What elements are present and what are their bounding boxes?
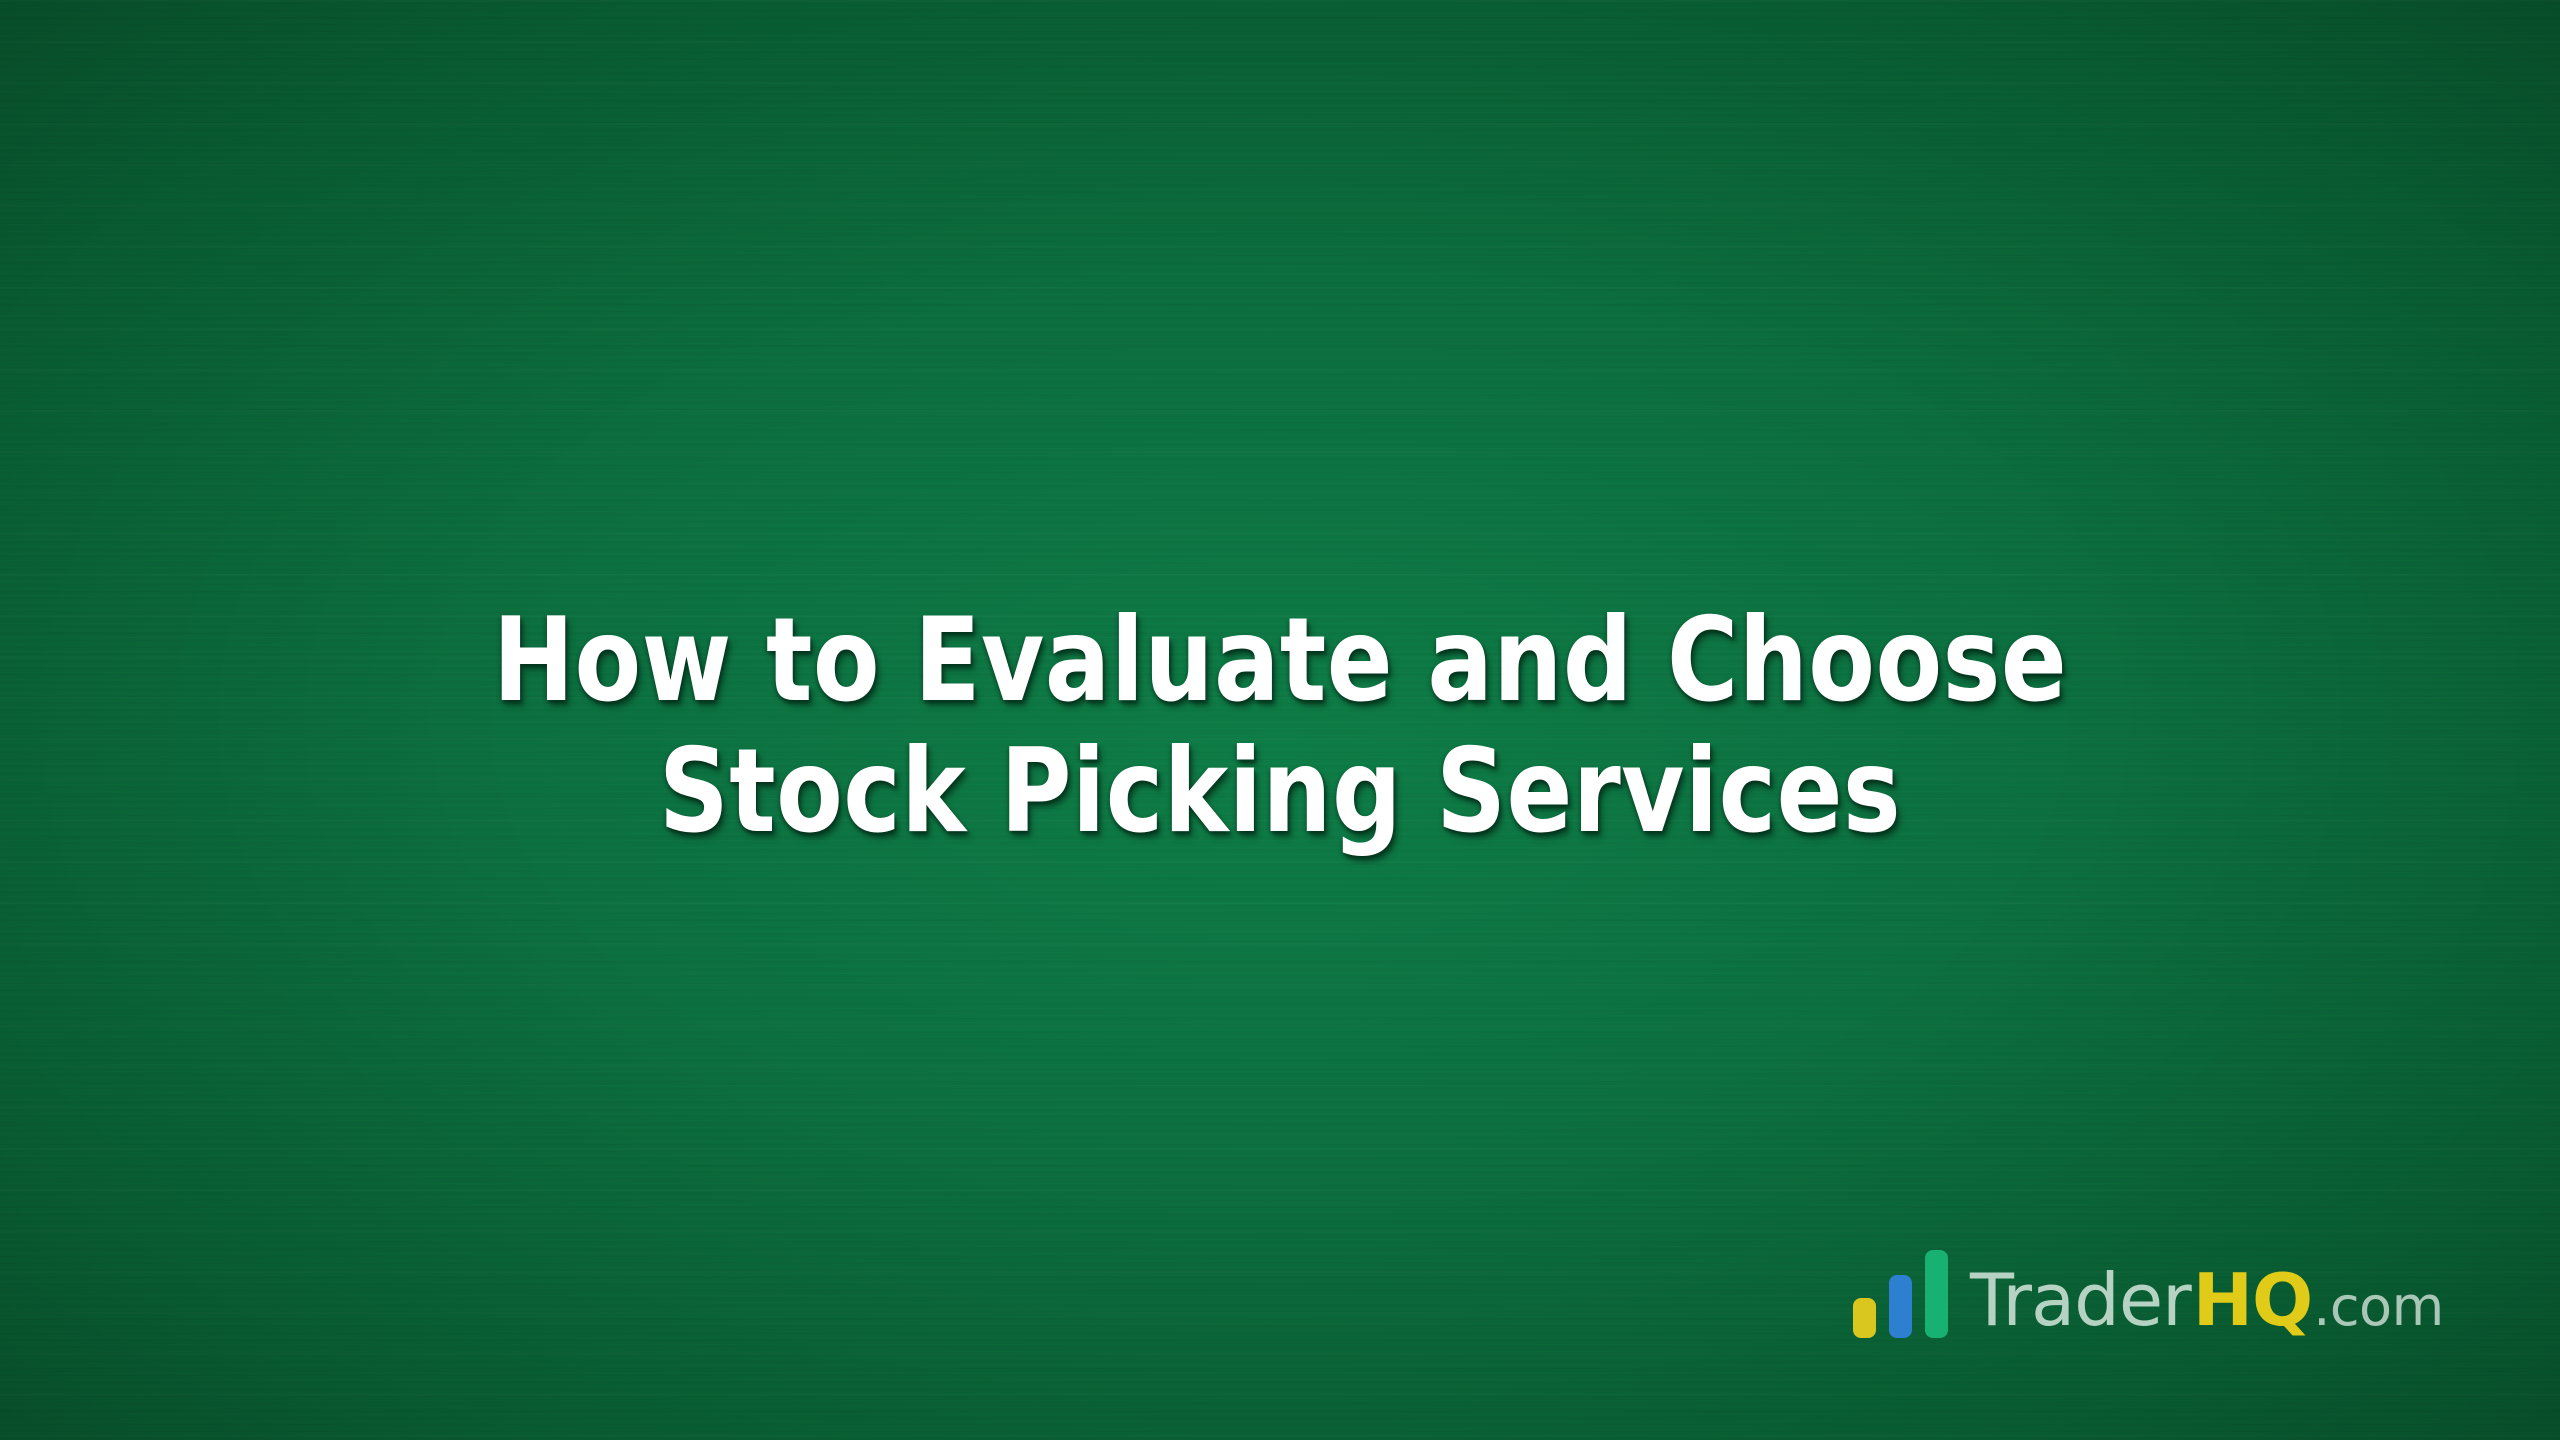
page-title: How to Evaluate and Choose Stock Picking… (0, 595, 2560, 857)
page-title-line-1: How to Evaluate and Choose (90, 595, 2471, 726)
bar-chart-icon (1853, 1246, 1948, 1338)
title-slide: How to Evaluate and Choose Stock Picking… (0, 0, 2560, 1440)
logo-wordmark-hq: HQ (2193, 1264, 2312, 1336)
bar-chart-icon-bar-blue (1889, 1275, 1912, 1338)
logo-wordmark-trader: Trader (1970, 1264, 2191, 1336)
logo-wordmark: Trader HQ .com (1970, 1264, 2444, 1336)
logo-wordmark-tld: .com (2313, 1280, 2444, 1334)
page-title-line-2: Stock Picking Services (90, 726, 2471, 857)
traderhq-logo[interactable]: Trader HQ .com (1853, 1246, 2444, 1340)
bar-chart-icon-bar-yellow (1853, 1298, 1876, 1338)
bar-chart-icon-bar-green (1925, 1250, 1948, 1338)
